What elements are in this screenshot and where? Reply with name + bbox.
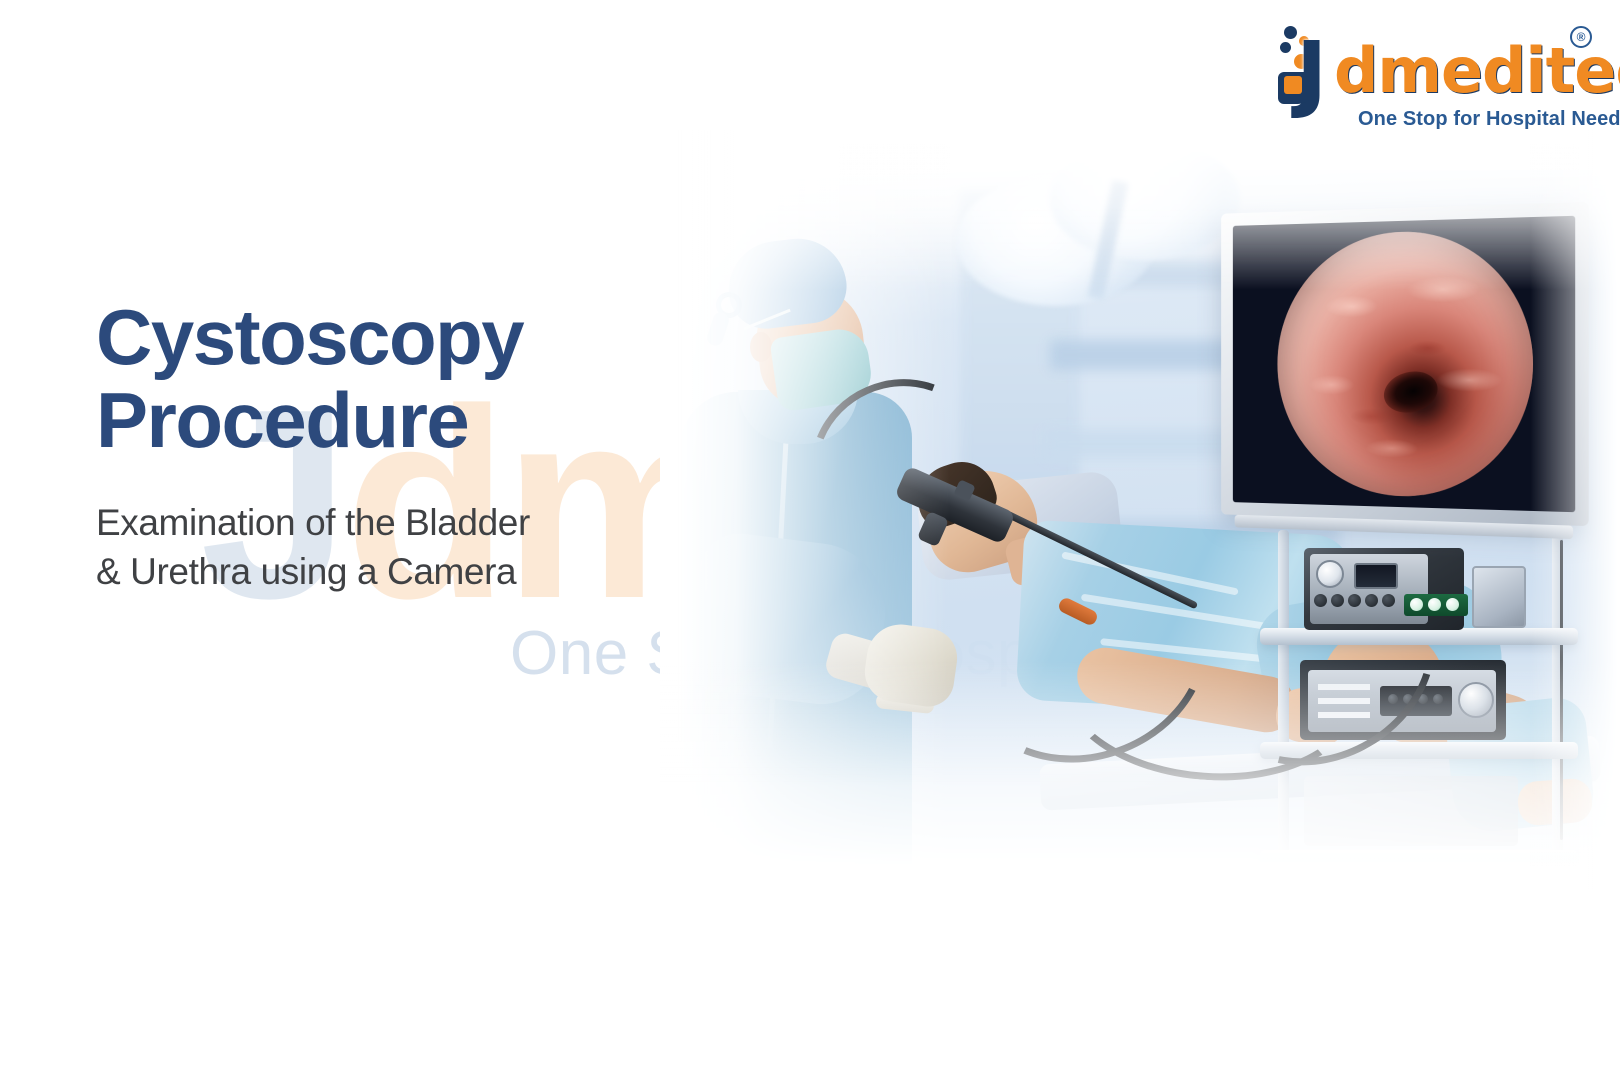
brand-logo[interactable]: J dmeditech ® One Stop for Hospital Need…: [1274, 18, 1594, 130]
page-subtitle: Examination of the Bladder & Urethra usi…: [96, 499, 716, 597]
status-led-icon: [1446, 598, 1459, 611]
logo-wordmark: dmeditech: [1334, 40, 1620, 102]
photo-layers: [660, 130, 1620, 890]
banner-copy: Cystoscopy Procedure Examination of the …: [96, 296, 716, 597]
side-module: [1472, 566, 1526, 628]
cystoscopy-banner: Jdm ® One Stop for Hospital Needs: [0, 0, 1620, 1080]
photo-fade-bottom: [660, 660, 1620, 890]
status-led-icon: [1428, 598, 1441, 611]
photo-fade-right: [1530, 130, 1620, 890]
registered-trademark-icon: ®: [1570, 26, 1592, 48]
logo-tagline: One Stop for Hospital Needs: [1358, 108, 1620, 131]
procedure-photo: [660, 130, 1620, 890]
hand-device-icon: [1284, 76, 1302, 94]
page-title: Cystoscopy Procedure: [96, 296, 716, 461]
molecule-dot-icon: [1280, 42, 1291, 53]
